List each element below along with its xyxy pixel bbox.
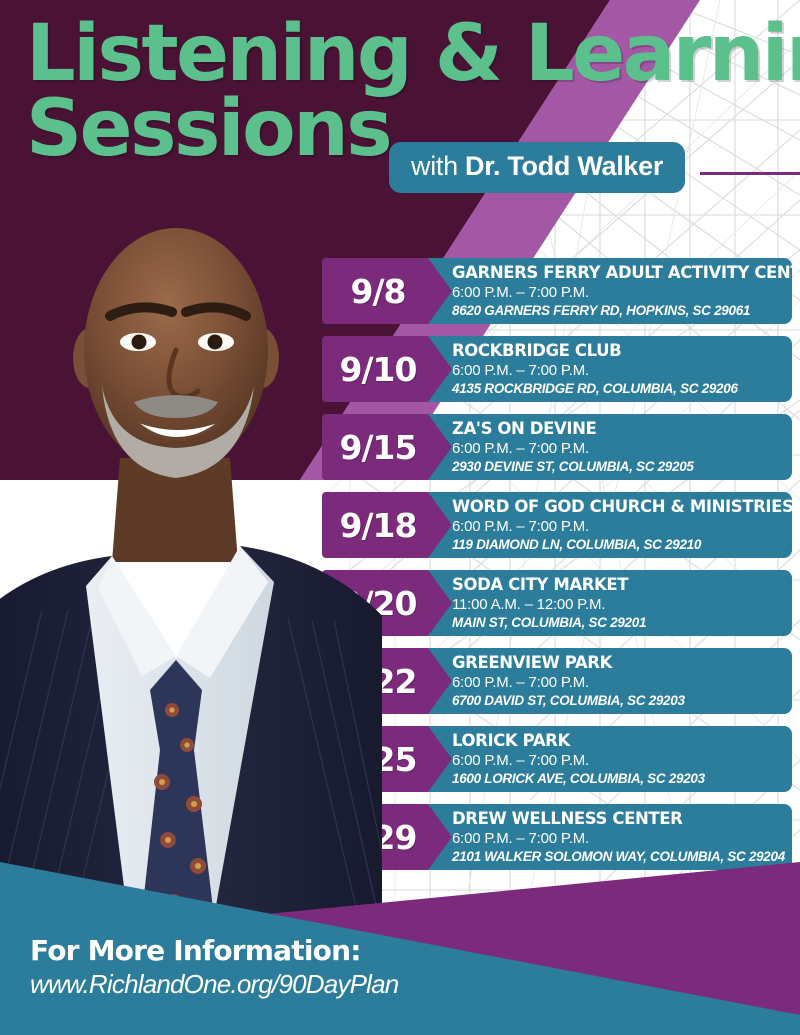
- row-address: 8620 GARNERS FERRY RD, HOPKINS, SC 29061: [452, 303, 786, 319]
- row-venue: DREW WELLNESS CENTER: [452, 810, 786, 829]
- row-address: 1600 LORICK AVE, COLUMBIA, SC 29203: [452, 771, 786, 787]
- row-info: LORICK PARK 6:00 P.M. – 7:00 P.M. 1600 L…: [452, 732, 786, 787]
- row-info: ZA'S ON DEVINE 6:00 P.M. – 7:00 P.M. 293…: [452, 420, 786, 475]
- presenter-name: Dr. Todd Walker: [465, 151, 663, 181]
- footer-rule: [408, 911, 800, 915]
- footer-url[interactable]: www.RichlandOne.org/90DayPlan: [30, 970, 398, 1000]
- row-venue: WORD OF GOD CHURCH & MINISTRIES: [452, 498, 786, 517]
- presenter-prefix: with: [411, 151, 465, 181]
- row-address: 4135 ROCKBRIDGE RD, COLUMBIA, SC 29206: [452, 381, 786, 397]
- presenter-portrait: [0, 190, 382, 950]
- row-venue: SODA CITY MARKET: [452, 576, 786, 595]
- row-time: 6:00 P.M. – 7:00 P.M.: [452, 284, 786, 302]
- row-info: SODA CITY MARKET 11:00 A.M. – 12:00 P.M.…: [452, 576, 786, 631]
- row-venue: GARNERS FERRY ADULT ACTIVITY CENTER: [452, 264, 786, 283]
- row-venue: GREENVIEW PARK: [452, 654, 786, 673]
- row-time: 6:00 P.M. – 7:00 P.M.: [452, 362, 786, 380]
- footer-info: For More Information: www.RichlandOne.or…: [30, 936, 398, 1000]
- row-time: 6:00 P.M. – 7:00 P.M.: [452, 674, 786, 692]
- row-info: GARNERS FERRY ADULT ACTIVITY CENTER 6:00…: [452, 264, 786, 319]
- row-venue: ZA'S ON DEVINE: [452, 420, 786, 439]
- row-info: ROCKBRIDGE CLUB 6:00 P.M. – 7:00 P.M. 41…: [452, 342, 786, 397]
- row-address: 119 DIAMOND LN, COLUMBIA, SC 29210: [452, 537, 786, 553]
- row-time: 6:00 P.M. – 7:00 P.M.: [452, 752, 786, 770]
- row-time: 6:00 P.M. – 7:00 P.M.: [452, 518, 786, 536]
- row-time: 6:00 P.M. – 7:00 P.M.: [452, 440, 786, 458]
- footer-heading: For More Information:: [30, 936, 398, 967]
- row-address: MAIN ST, COLUMBIA, SC 29201: [452, 615, 786, 631]
- badge-rule: [700, 172, 800, 175]
- title-line-1: Listening & Learning: [26, 18, 800, 91]
- row-info: GREENVIEW PARK 6:00 P.M. – 7:00 P.M. 670…: [452, 654, 786, 709]
- row-time: 11:00 A.M. – 12:00 P.M.: [452, 596, 786, 614]
- row-address: 6700 DAVID ST, COLUMBIA, SC 29203: [452, 693, 786, 709]
- presenter-badge: with Dr. Todd Walker: [389, 142, 685, 193]
- row-address: 2930 DEVINE ST, COLUMBIA, SC 29205: [452, 459, 786, 475]
- row-venue: LORICK PARK: [452, 732, 786, 751]
- row-venue: ROCKBRIDGE CLUB: [452, 342, 786, 361]
- row-info: WORD OF GOD CHURCH & MINISTRIES 6:00 P.M…: [452, 498, 786, 553]
- flyer-canvas: Listening & Learning Sessions with Dr. T…: [0, 0, 800, 1035]
